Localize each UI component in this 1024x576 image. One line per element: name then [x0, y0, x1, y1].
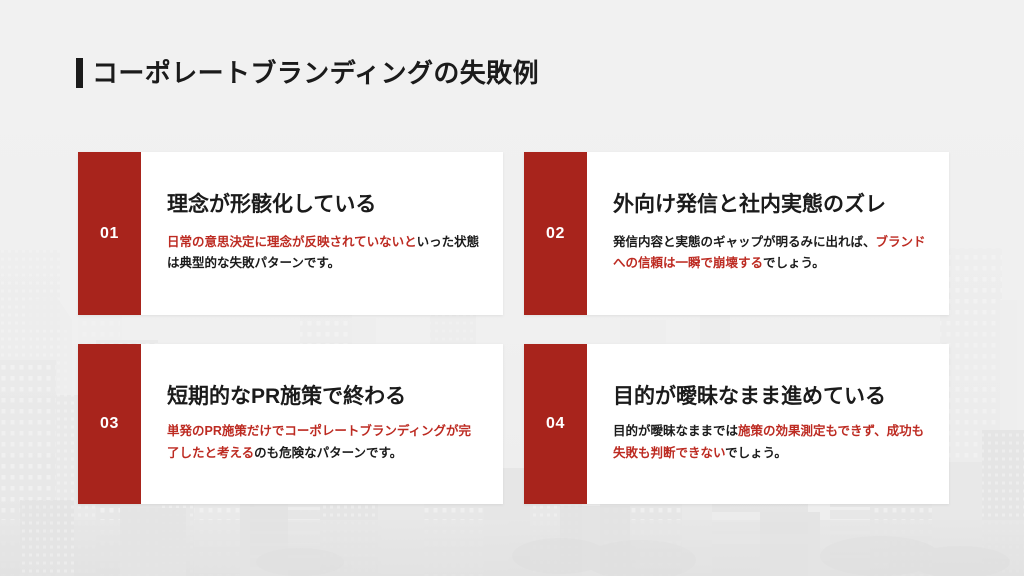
card-heading: 外向け発信と社内実態のズレ — [613, 192, 927, 218]
title-accent-bar — [76, 58, 83, 88]
card-description-plain-lead: 目的が曖昧なままでは — [613, 424, 738, 438]
card-description-highlight-lead: 単発のPR施策だけでコーポレートブランディング — [167, 424, 446, 438]
card-heading: 理念が形骸化している — [167, 192, 481, 218]
slide-canvas: コーポレートブランディングの失敗例 01 理念が形骸化している 日常の意思決定に… — [0, 0, 1024, 576]
card-description: 目的が曖昧なままでは施策の効果測定もできず、成功も失敗も判断できないでしょう。 — [613, 421, 927, 464]
failure-card-03: 03 短期的なPR施策で終わる 単発のPR施策だけでコーポレートブランディングが… — [78, 344, 503, 504]
card-description: 日常の意思決定に理念が反映されていないといった状態は典型的な失敗パターンです。 — [167, 232, 481, 275]
card-description-plain-tail: でしょう。 — [725, 446, 787, 460]
card-number-badge: 01 — [78, 152, 141, 315]
failure-card-01: 01 理念が形骸化している 日常の意思決定に理念が反映されていないといった状態は… — [78, 152, 503, 315]
card-content: 理念が形骸化している 日常の意思決定に理念が反映されていないといった状態は典型的… — [141, 152, 503, 315]
card-description-highlight: 日常の意思決定に理念が反映されていないと — [167, 235, 417, 249]
card-description-plain-lead: 発信内容と実態のギャップが明るみに出れば、 — [613, 235, 876, 249]
card-description-plain-tail: のも危険なパターンです。 — [254, 446, 402, 460]
card-heading: 短期的なPR施策で終わる — [167, 384, 481, 410]
page-title: コーポレートブランディングの失敗例 — [76, 58, 539, 88]
failure-card-02: 02 外向け発信と社内実態のズレ 発信内容と実態のギャップが明るみに出れば、ブラ… — [524, 152, 949, 315]
failure-card-04: 04 目的が曖昧なまま進めている 目的が曖昧なままでは施策の効果測定もできず、成… — [524, 344, 949, 504]
card-content: 外向け発信と社内実態のズレ 発信内容と実態のギャップが明るみに出れば、ブランドへ… — [587, 152, 949, 315]
card-description: 単発のPR施策だけでコーポレートブランディングが完了したと考えるのも危険なパター… — [167, 421, 481, 464]
card-number-badge: 02 — [524, 152, 587, 315]
card-description-plain-tail: でしょう。 — [763, 256, 825, 270]
card-description: 発信内容と実態のギャップが明るみに出れば、ブランドへの信頼は一瞬で崩壊するでしょ… — [613, 232, 927, 275]
title-text: コーポレートブランディングの失敗例 — [92, 60, 539, 86]
card-content: 短期的なPR施策で終わる 単発のPR施策だけでコーポレートブランディングが完了し… — [141, 344, 503, 504]
card-number-badge: 04 — [524, 344, 587, 504]
card-number-badge: 03 — [78, 344, 141, 504]
card-content: 目的が曖昧なまま進めている 目的が曖昧なままでは施策の効果測定もできず、成功も失… — [587, 344, 949, 504]
card-description-highlight-lead: 施策の効果測定もでき — [738, 424, 863, 438]
card-heading: 目的が曖昧なまま進めている — [613, 384, 927, 410]
